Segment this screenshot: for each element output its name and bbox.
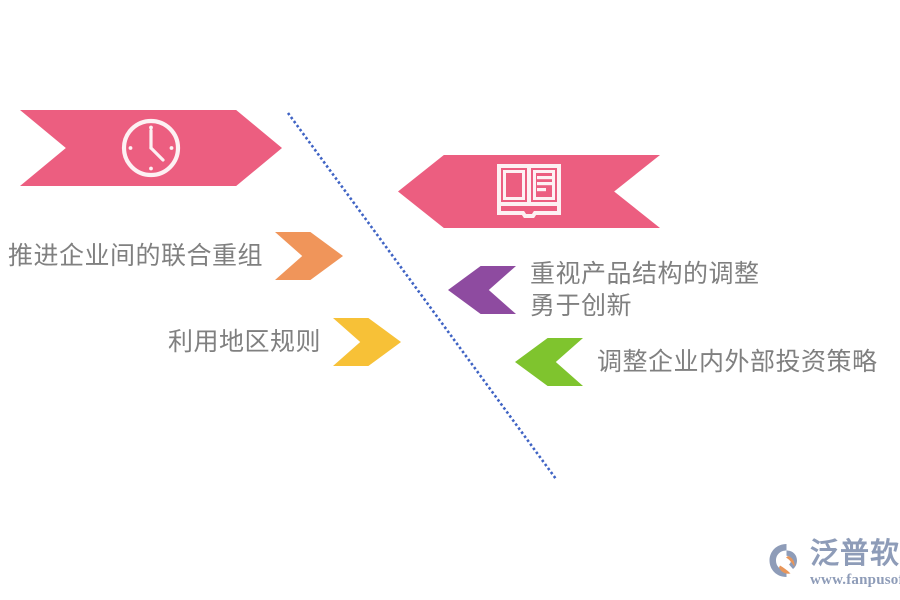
item-arrow-yellow [333, 318, 401, 366]
logo-website-url: www.fanpusoft.com [810, 573, 900, 588]
open-book-icon [496, 163, 562, 221]
brand-logo[interactable]: 泛普软件 www.fanpusoft.com [766, 540, 900, 588]
header-banner-book [398, 155, 660, 228]
item-label: 重视产品结构的调整 勇于创新 [530, 258, 760, 322]
item-row-regional-rules: 利用地区规则 [168, 318, 401, 366]
item-label: 利用地区规则 [168, 326, 321, 358]
item-arrow-green [515, 338, 583, 386]
clock-icon [119, 116, 183, 180]
item-label: 调整企业内外部投资策略 [597, 346, 878, 378]
item-row-investment-strategy: 调整企业内外部投资策略 [515, 338, 878, 386]
item-arrow-purple [448, 266, 516, 314]
fanpu-logo-mark-icon [766, 540, 806, 580]
banner-icon-slot [20, 110, 282, 186]
item-row-merger: 推进企业间的联合重组 [8, 232, 343, 280]
header-banner-clock [20, 110, 282, 186]
item-label: 推进企业间的联合重组 [8, 240, 263, 272]
item-row-product-structure: 重视产品结构的调整 勇于创新 [448, 258, 760, 322]
banner-icon-slot [398, 155, 660, 228]
item-arrow-orange [275, 232, 343, 280]
infographic-canvas: 推进企业间的联合重组 利用地区规则 重视产品结构的调整 勇于创新 调整企业内外部… [0, 0, 900, 600]
logo-company-name: 泛普软件 [810, 540, 900, 569]
